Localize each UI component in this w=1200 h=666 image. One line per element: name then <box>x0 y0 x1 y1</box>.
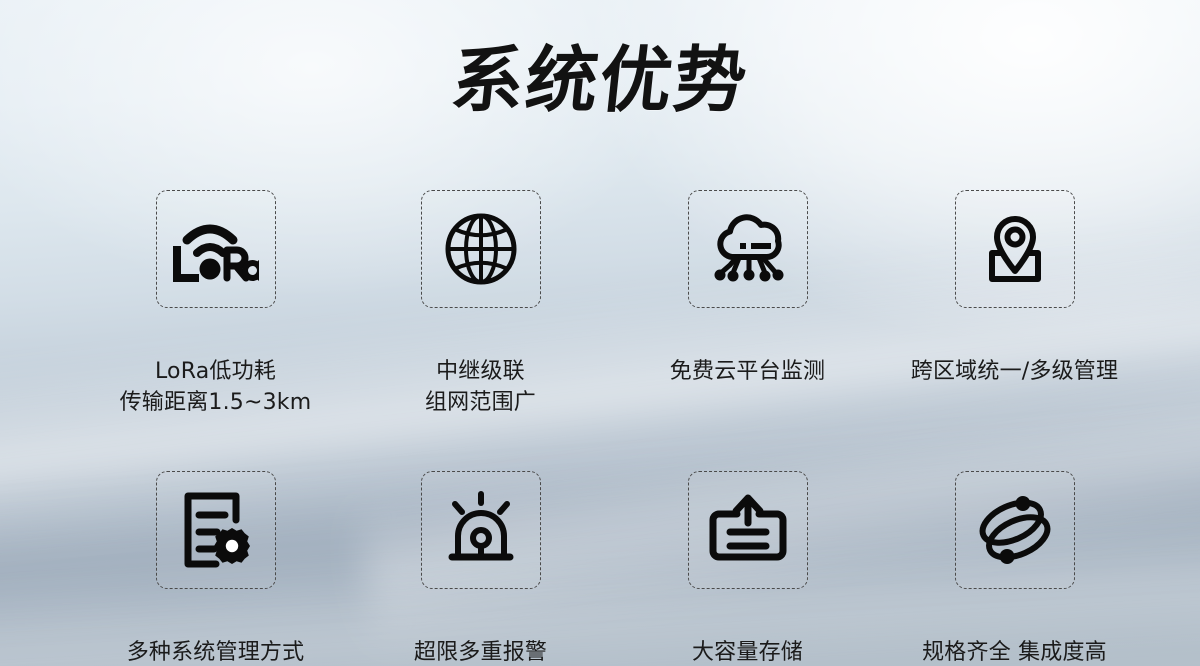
caption-line-1: 大容量存储 <box>692 640 803 665</box>
feature-item-system-management[interactable]: 多种系统管理方式 <box>78 471 353 666</box>
globe-icon <box>442 210 520 288</box>
feature-grid: LoRa低功耗 传输距离1.5~3km <box>0 190 1200 666</box>
feature-caption: 规格齐全 集成度高 <box>922 606 1107 666</box>
document-gear-icon <box>178 490 254 570</box>
feature-item-cross-region[interactable]: 跨区域统一/多级管理 <box>877 190 1152 449</box>
icon-frame <box>421 190 541 308</box>
feature-caption: 中继级联 组网范围广 <box>425 325 536 449</box>
caption-line-1: 中继级联 <box>436 359 525 384</box>
feature-caption: LoRa低功耗 传输距离1.5~3km <box>120 325 312 449</box>
caption-line-1: 规格齐全 集成度高 <box>922 640 1107 665</box>
feature-row-1: LoRa低功耗 传输距离1.5~3km <box>0 190 1200 449</box>
caption-line-1: 跨区域统一/多级管理 <box>911 359 1118 384</box>
feature-caption: 多种系统管理方式 <box>127 606 305 666</box>
feature-caption: 跨区域统一/多级管理 <box>911 325 1118 418</box>
icon-frame <box>156 190 276 308</box>
caption-line-2: 组网范围广 <box>425 387 536 418</box>
feature-caption: 大容量存储 断点续传 <box>692 606 803 666</box>
icon-frame <box>688 471 808 589</box>
feature-item-multi-alarm[interactable]: 超限多重报警 <box>343 471 618 666</box>
feature-row-2: 多种系统管理方式 <box>0 471 1200 666</box>
caption-line-1: 免费云平台监测 <box>670 359 825 384</box>
icon-frame <box>688 190 808 308</box>
icon-frame <box>955 471 1075 589</box>
alarm-siren-icon <box>441 490 521 570</box>
lora-signal-icon <box>173 216 259 282</box>
caption-line-2: 传输距离1.5~3km <box>120 387 312 418</box>
feature-caption: 免费云平台监测 <box>670 325 825 418</box>
caption-line-1: 超限多重报警 <box>414 640 547 665</box>
caption-line-1: 多种系统管理方式 <box>127 640 305 665</box>
feature-caption: 超限多重报警 <box>414 606 547 666</box>
feature-item-relay-network[interactable]: 中继级联 组网范围广 <box>343 190 618 449</box>
orbit-rings-icon <box>973 490 1057 570</box>
cloud-network-icon <box>706 211 790 287</box>
page-title: 系统优势 <box>0 44 1200 116</box>
caption-line-1: LoRa低功耗 <box>155 359 276 384</box>
icon-frame <box>955 190 1075 308</box>
feature-item-full-spec[interactable]: 规格齐全 集成度高 <box>877 471 1152 666</box>
upload-storage-icon <box>705 493 791 567</box>
feature-item-cloud-platform[interactable]: 免费云平台监测 <box>610 190 885 449</box>
icon-frame <box>156 471 276 589</box>
advantages-section: 系统优势 <box>0 0 1200 666</box>
feature-item-large-storage[interactable]: 大容量存储 断点续传 <box>610 471 885 666</box>
map-pin-icon <box>975 209 1055 289</box>
feature-item-lora[interactable]: LoRa低功耗 传输距离1.5~3km <box>78 190 353 449</box>
icon-frame <box>421 471 541 589</box>
